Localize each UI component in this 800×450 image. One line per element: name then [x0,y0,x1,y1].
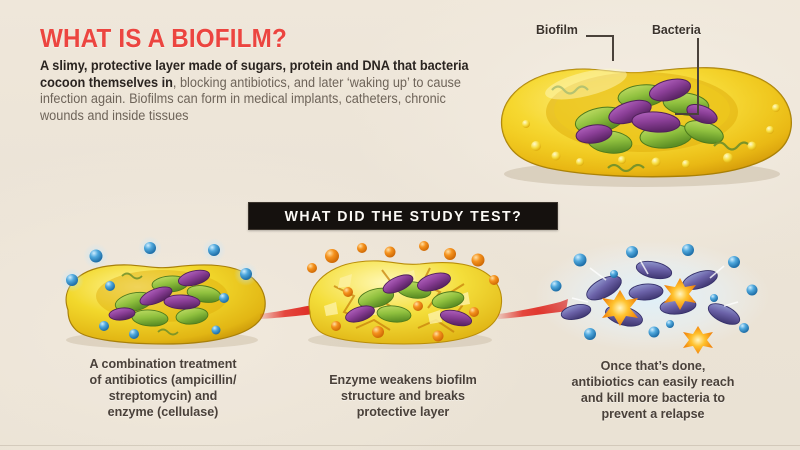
caption-line: Once that’s done, [534,358,772,374]
caption-line: prevent a relapse [534,406,772,422]
caption-line: protective layer [284,404,522,420]
caption-line: streptomycin) and [44,388,282,404]
leader-line-bacteria-vertical [697,38,699,114]
step-3-illustration [528,240,778,352]
leader-line-biofilm-vertical [612,35,614,61]
step-1-illustration [38,240,288,352]
intro-paragraph: A slimy, protective layer made of sugars… [40,58,469,124]
bottom-divider [0,445,800,446]
section-banner: WHAT DID THE STUDY TEST? [248,202,558,230]
label-biofilm: Biofilm [536,22,578,37]
headline-block: WHAT IS A BIOFILM? A slimy, protective l… [40,24,470,124]
label-bacteria: Bacteria [652,22,701,37]
infographic-canvas: WHAT IS A BIOFILM? A slimy, protective l… [0,0,800,450]
caption-line: Enzyme weakens biofilm [284,372,522,388]
step-3-caption: Once that’s done, antibiotics can easily… [534,358,772,422]
step-2-illustration [278,240,528,352]
step-1-caption: A combination treatment of antibiotics (… [44,356,282,420]
caption-line: enzyme (cellulase) [44,404,282,420]
caption-line: and kill more bacteria to [534,390,772,406]
caption-line: structure and breaks [284,388,522,404]
leader-line-biofilm-horizontal [586,35,614,37]
caption-line: antibiotics can easily reach [534,374,772,390]
page-title: WHAT IS A BIOFILM? [40,24,440,52]
step-2-caption: Enzyme weakens biofilm structure and bre… [284,372,522,420]
step-panel-3: Once that’s done, antibiotics can easily… [528,240,778,422]
step-panel-2: Enzyme weakens biofilm structure and bre… [278,240,528,420]
caption-line: A combination treatment [44,356,282,372]
caption-line: of antibiotics (ampicillin/ [44,372,282,388]
section-banner-label: WHAT DID THE STUDY TEST? [284,208,522,225]
leader-line-bacteria-horizontal [675,113,699,115]
step-panel-1: A combination treatment of antibiotics (… [38,240,288,420]
